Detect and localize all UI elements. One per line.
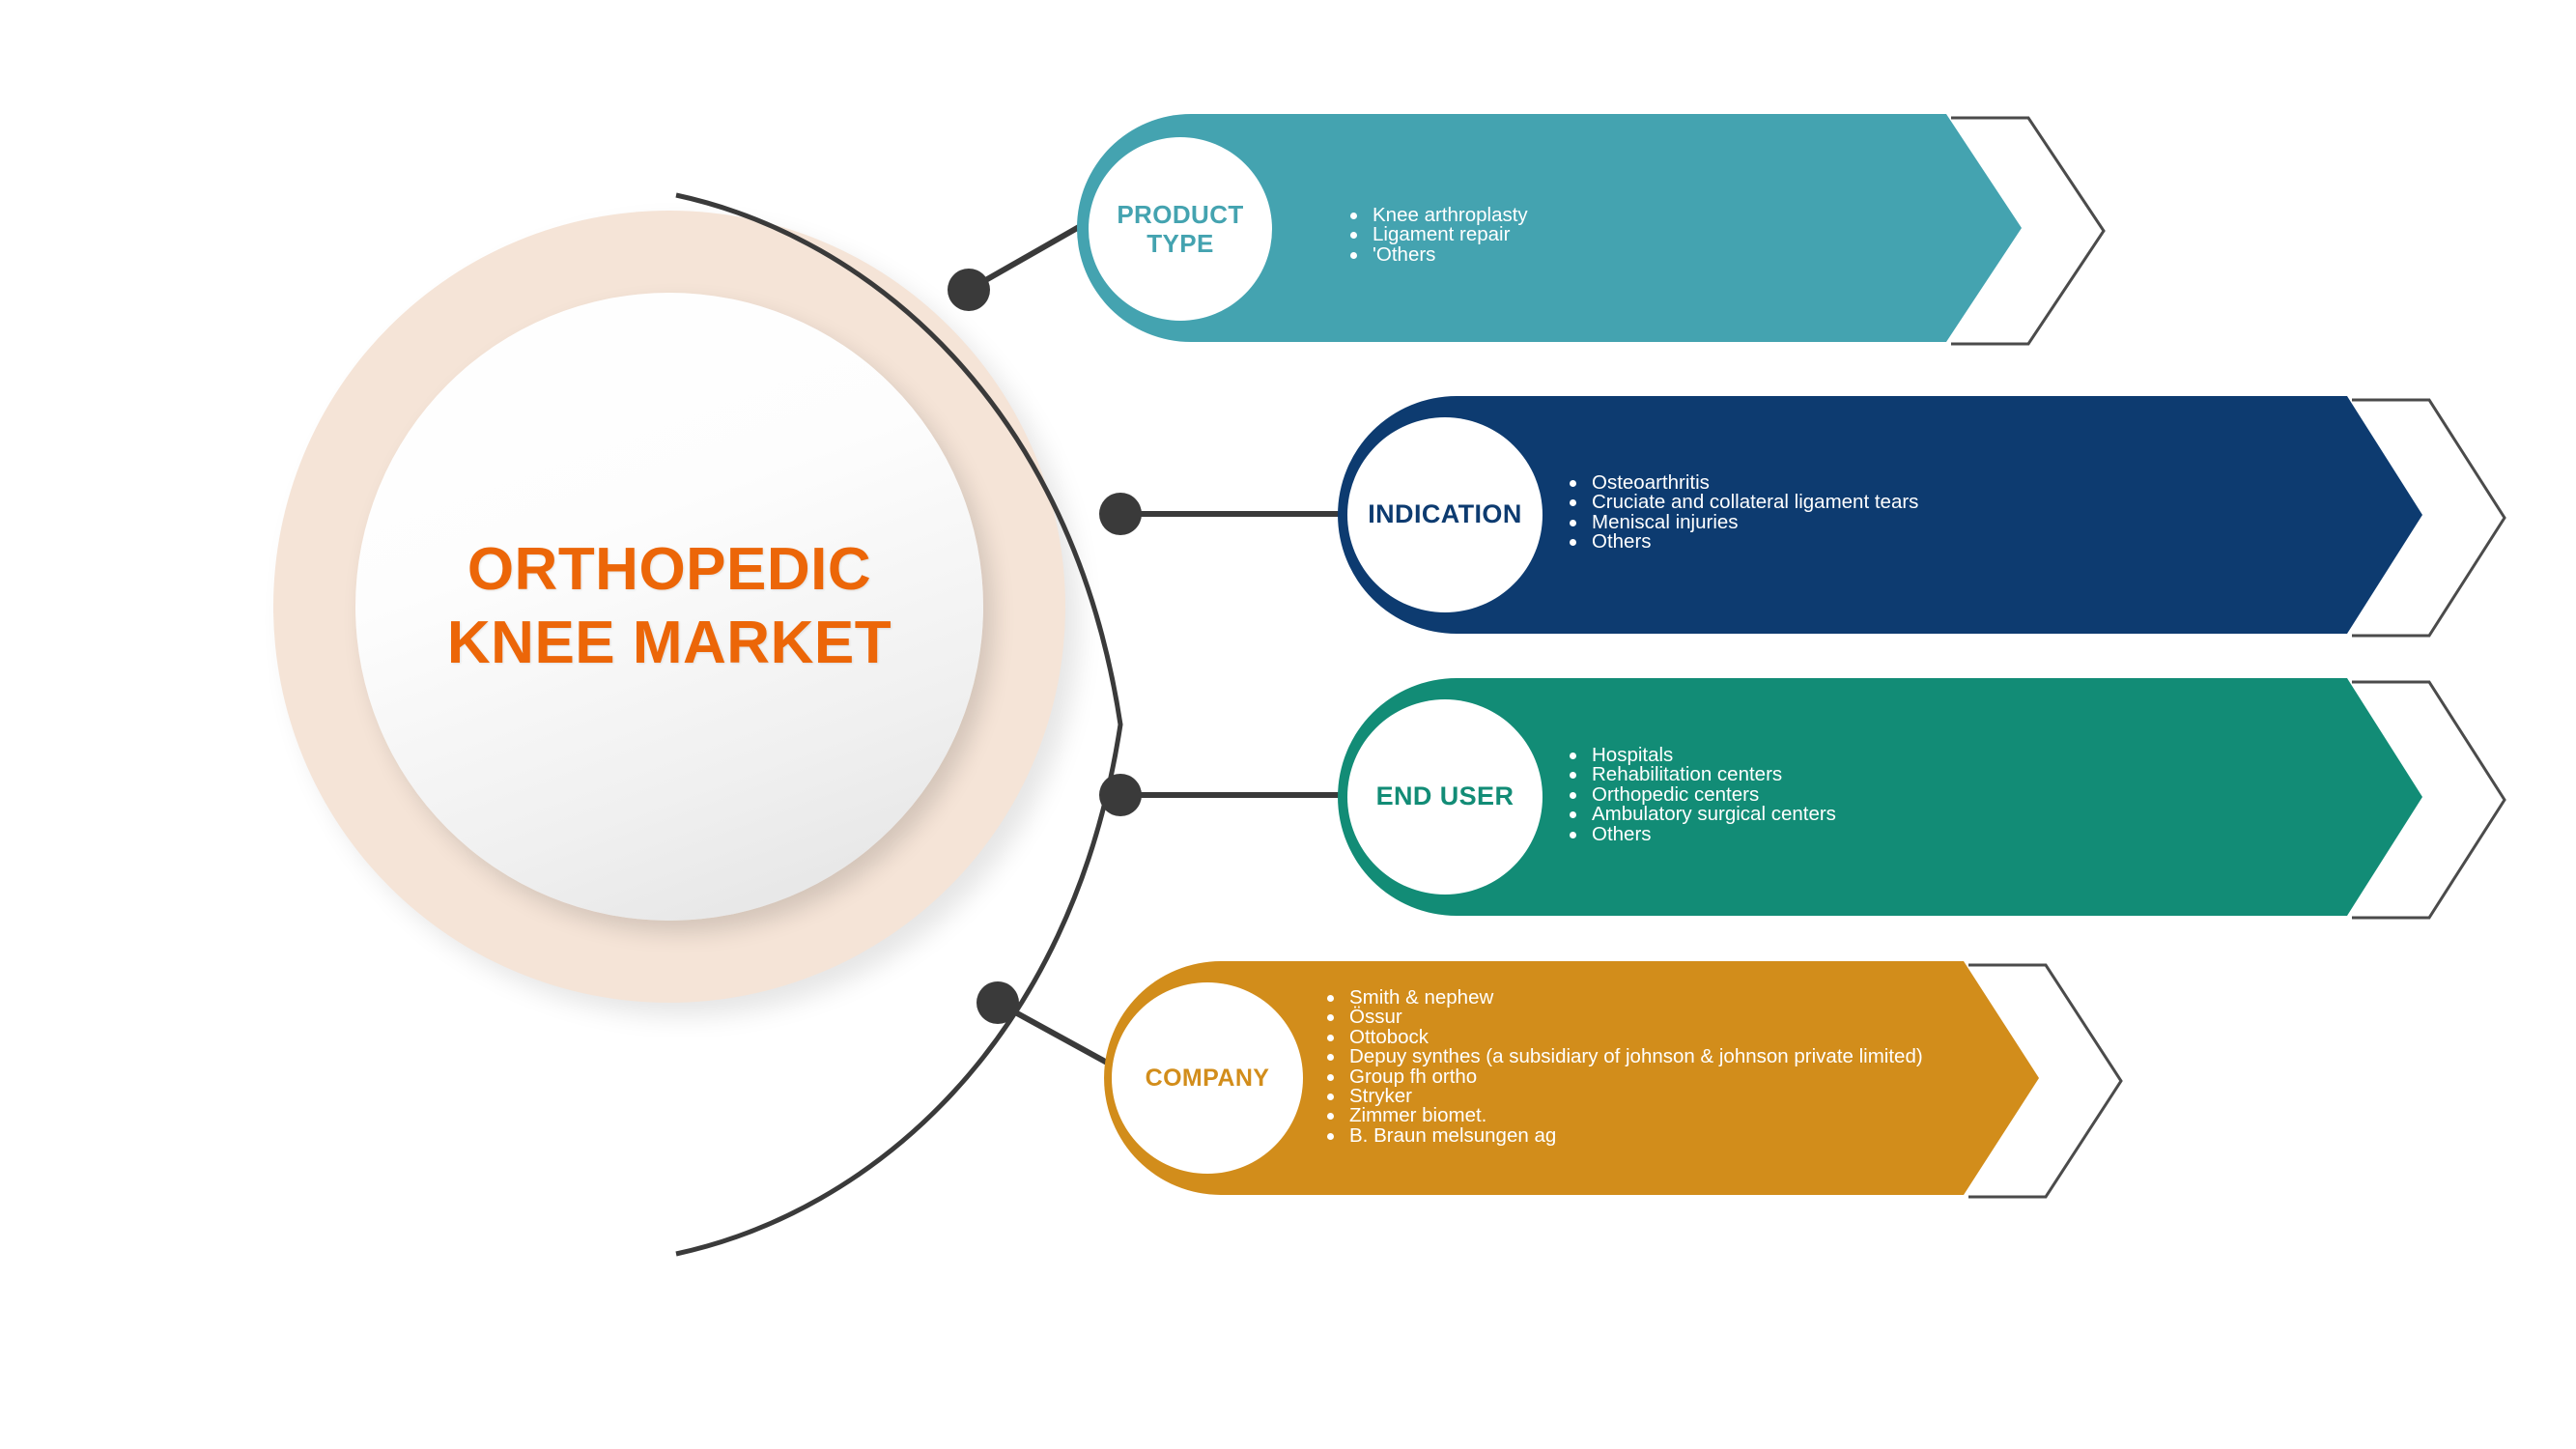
list-item: Cruciate and collateral ligament tears	[1567, 493, 1918, 512]
branch-badge-company: COMPANY	[1112, 982, 1303, 1174]
list-item: Osteoarthritis	[1567, 473, 1918, 493]
connector-node-2	[1099, 493, 1142, 535]
list-item: Ambulatory surgical centers	[1567, 805, 1836, 824]
branch-row-end-user[interactable]: END USER HospitalsRehabilitation centers…	[1338, 678, 2506, 917]
branch-label-product-type: PRODUCT TYPE	[1117, 200, 1243, 258]
connector-node-4	[977, 981, 1019, 1024]
list-item: Zimmer biomet.	[1324, 1106, 1923, 1125]
list-item: Group fh ortho	[1324, 1067, 1923, 1087]
branch-badge-product-type: PRODUCT TYPE	[1089, 137, 1272, 321]
list-item: Hospitals	[1567, 746, 1836, 765]
list-item: Orthopedic centers	[1567, 785, 1836, 805]
list-item: Rehabilitation centers	[1567, 765, 1836, 784]
list-item: Ligament repair	[1347, 225, 1528, 244]
infographic-canvas: ORTHOPEDIC KNEE MARKET PRODUCT TYPE Knee…	[0, 0, 2576, 1449]
branch-row-company[interactable]: COMPANY Smith & nephewÖssurOttobockDepuy…	[1104, 961, 2128, 1195]
branch-bullets-end-user: HospitalsRehabilitation centersOrthopedi…	[1567, 746, 1836, 844]
branch-label-company: COMPANY	[1146, 1065, 1270, 1093]
list-item: Stryker	[1324, 1087, 1923, 1106]
branch-badge-end-user: END USER	[1347, 699, 1543, 895]
list-item: 'Others	[1347, 245, 1528, 265]
list-item: Knee arthroplasty	[1347, 206, 1528, 225]
branch-badge-indication: INDICATION	[1347, 417, 1543, 612]
connector-node-1	[948, 269, 990, 311]
center-hub-inner: ORTHOPEDIC KNEE MARKET	[355, 293, 983, 921]
branch-bullets-indication: OsteoarthritisCruciate and collateral li…	[1567, 473, 1918, 553]
branch-bullets-product-type: Knee arthroplastyLigament repair'Others	[1347, 206, 1528, 265]
list-item: B. Braun melsungen ag	[1324, 1126, 1923, 1146]
list-item: Depuy synthes (a subsidiary of johnson &…	[1324, 1047, 1923, 1066]
list-item: Össur	[1324, 1008, 1923, 1027]
list-item: Others	[1567, 825, 1836, 844]
list-item: Others	[1567, 532, 1918, 552]
list-item: Ottobock	[1324, 1028, 1923, 1047]
page-title: ORTHOPEDIC KNEE MARKET	[447, 533, 892, 679]
branch-label-end-user: END USER	[1376, 781, 1514, 811]
connector-line-product-type	[969, 227, 1079, 290]
branch-row-indication[interactable]: INDICATION OsteoarthritisCruciate and co…	[1338, 396, 2506, 635]
connector-node-3	[1099, 774, 1142, 816]
branch-bullets-company: Smith & nephewÖssurOttobockDepuy synthes…	[1324, 988, 1923, 1146]
branch-row-product-type[interactable]: PRODUCT TYPE Knee arthroplastyLigament r…	[1077, 114, 2091, 343]
list-item: Meniscal injuries	[1567, 513, 1918, 532]
branch-label-indication: INDICATION	[1368, 499, 1522, 529]
list-item: Smith & nephew	[1324, 988, 1923, 1008]
center-hub-ring: ORTHOPEDIC KNEE MARKET	[273, 211, 1065, 1003]
